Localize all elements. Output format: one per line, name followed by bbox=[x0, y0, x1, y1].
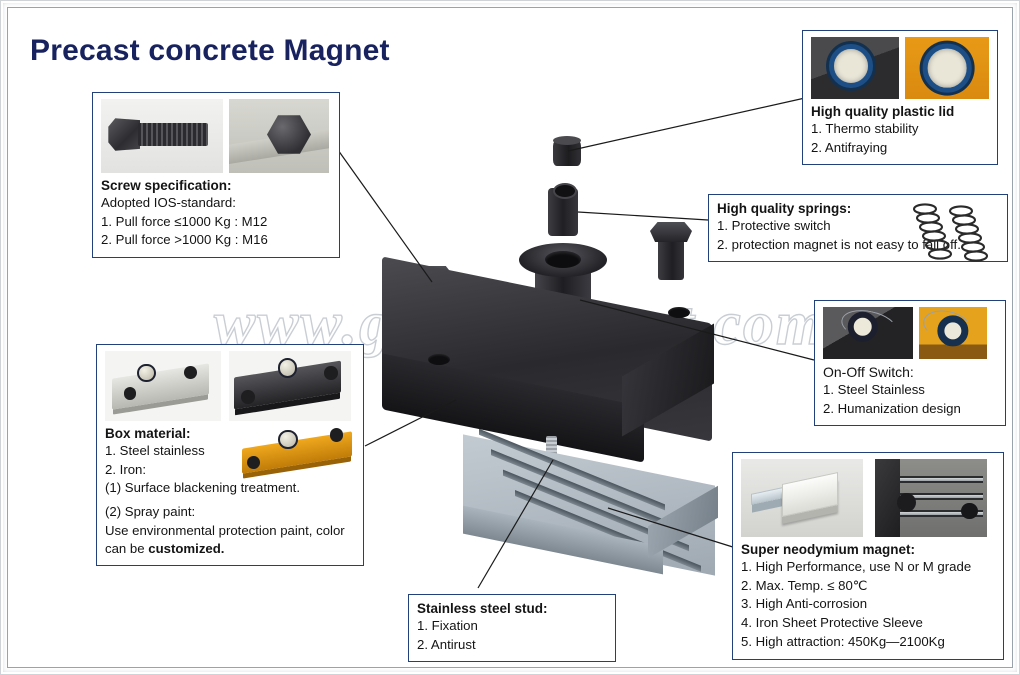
callout-line: 1. Fixation bbox=[417, 617, 607, 636]
leader-springs bbox=[578, 212, 708, 220]
neodymium-blocks-photo bbox=[741, 459, 863, 537]
callout-line: 2. Pull force >1000 Kg : M16 bbox=[101, 231, 331, 250]
plastic-lid-on-black-body-photo bbox=[811, 37, 899, 99]
callout-line-custom: Use environmental protection paint, colo… bbox=[105, 522, 355, 558]
callout-line: 2. Antifraying bbox=[811, 139, 989, 158]
magnet-photos bbox=[741, 459, 995, 537]
switch-photos bbox=[823, 307, 997, 359]
inner-frame: Precast concrete Magnet www.gme-magnet.c… bbox=[7, 7, 1013, 668]
switch-on-black-body-photo bbox=[823, 307, 913, 359]
orange-box-magnet-photo bbox=[237, 421, 359, 483]
callout-line: 2. Max. Temp. ≤ 80℃ bbox=[741, 577, 995, 596]
lid-photos bbox=[811, 37, 989, 99]
box-photos-row bbox=[105, 351, 355, 421]
switch-on-orange-body-photo bbox=[919, 307, 987, 359]
leader-screw bbox=[338, 150, 432, 282]
black-box-magnet-photo bbox=[229, 351, 351, 421]
hex-bolt-photo bbox=[101, 99, 223, 173]
box-final-prefix: Use environmental protection paint, colo… bbox=[105, 523, 345, 556]
callout-line: 1. High Performance, use N or M grade bbox=[741, 558, 995, 577]
callout-title: Stainless steel stud: bbox=[417, 601, 607, 616]
silver-box-magnet-photo bbox=[105, 351, 221, 421]
bolt-in-steel-plate-photo bbox=[229, 99, 329, 173]
callout-title: Screw specification: bbox=[101, 178, 331, 193]
coil-springs-photo bbox=[899, 200, 995, 262]
leader-lid bbox=[568, 98, 805, 151]
callout-title: On-Off Switch: bbox=[823, 364, 997, 380]
plastic-lid-on-orange-body-photo bbox=[905, 37, 989, 99]
callout-screw-specification[interactable]: Screw specification: Adopted IOS-standar… bbox=[92, 92, 340, 258]
callout-line: 2. Humanization design bbox=[823, 400, 997, 419]
screw-photos bbox=[101, 99, 331, 173]
callout-line: (2) Spray paint: bbox=[105, 503, 355, 522]
callout-line: 1. Pull force ≤1000 Kg : M12 bbox=[101, 213, 331, 232]
leader-magnet bbox=[608, 508, 736, 548]
box-final-bold: customized. bbox=[148, 541, 224, 556]
callout-plastic-lid[interactable]: High quality plastic lid 1. Thermo stabi… bbox=[802, 30, 998, 165]
callout-line: 1. Steel Stainless bbox=[823, 381, 997, 400]
leader-stud bbox=[478, 460, 553, 588]
leader-box bbox=[365, 400, 456, 446]
callout-neodymium-magnet[interactable]: Super neodymium magnet: 1. High Performa… bbox=[732, 452, 1004, 660]
callout-title: Super neodymium magnet: bbox=[741, 542, 995, 557]
infographic-canvas: Precast concrete Magnet www.gme-magnet.c… bbox=[0, 0, 1020, 675]
leader-switch bbox=[580, 300, 814, 360]
callout-on-off-switch[interactable]: On-Off Switch: 1. Steel Stainless 2. Hum… bbox=[814, 300, 1006, 426]
callout-line: Adopted IOS-standard: bbox=[101, 194, 331, 213]
callout-line: 4. Iron Sheet Protective Sleeve bbox=[741, 614, 995, 633]
magnet-assembly-cutaway-photo bbox=[875, 459, 987, 537]
callout-title: High quality plastic lid bbox=[811, 104, 989, 119]
callout-line: 5. High attraction: 450Kg—2100Kg bbox=[741, 633, 995, 652]
callout-line: 2. Antirust bbox=[417, 636, 607, 655]
callout-line: 3. High Anti-corrosion bbox=[741, 595, 995, 614]
callout-line: 1. Thermo stability bbox=[811, 120, 989, 139]
callout-stainless-steel-stud[interactable]: Stainless steel stud: 1. Fixation 2. Ant… bbox=[408, 594, 616, 662]
callout-springs[interactable]: High quality springs: 1. Protective swit… bbox=[708, 194, 1008, 262]
callout-box-material[interactable]: Box material: 1. Steel stainless 2. Iron… bbox=[96, 344, 364, 566]
